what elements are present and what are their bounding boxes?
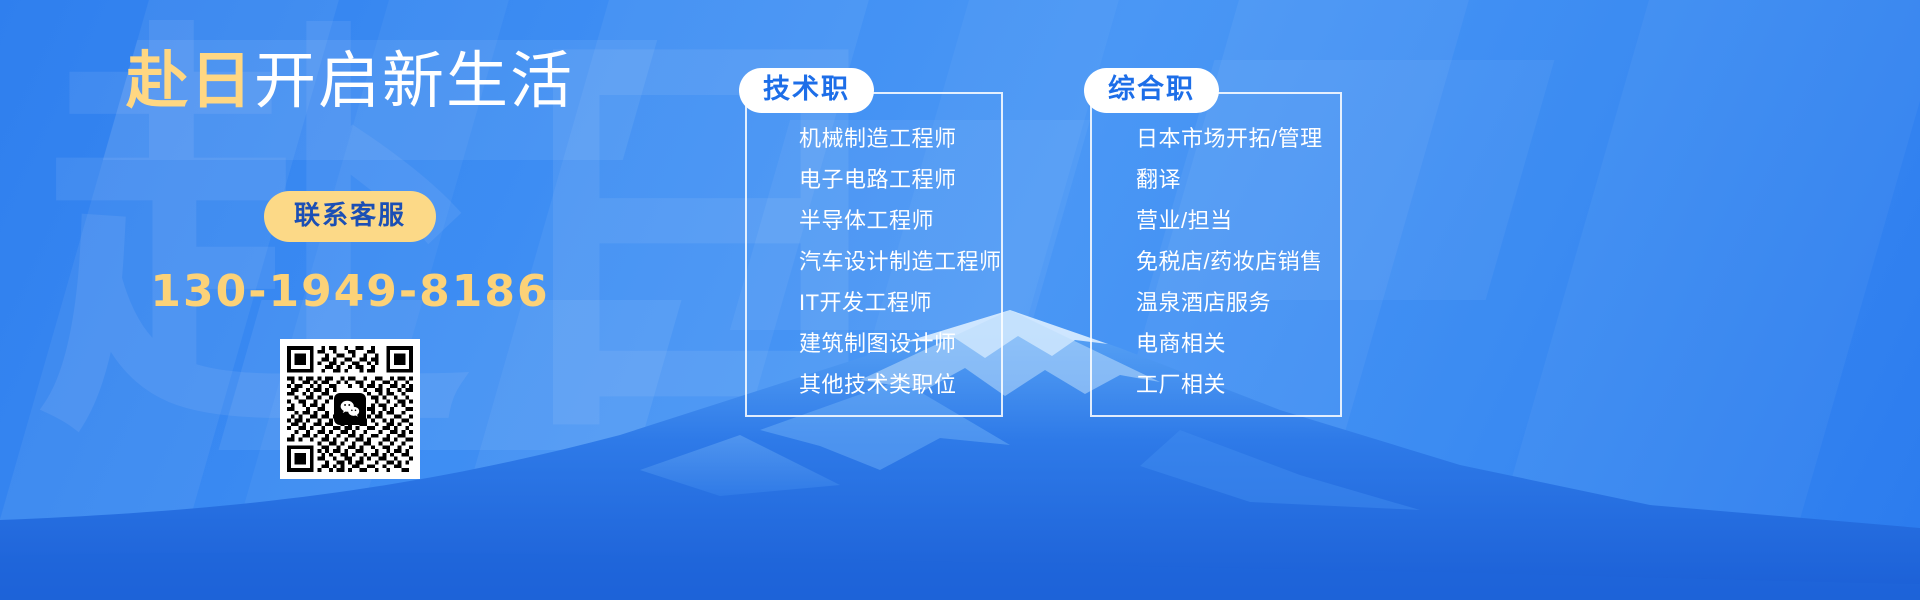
panel-badge-general: 综合职: [1084, 68, 1219, 113]
page-title: 赴日开启新生活: [0, 45, 700, 116]
list-item[interactable]: 汽车设计制造工程师: [777, 251, 975, 292]
list-item[interactable]: 建筑制图设计师: [777, 333, 975, 374]
list-item[interactable]: 工厂相关: [1122, 374, 1314, 396]
panel-badge-technical: 技术职: [739, 68, 874, 113]
wechat-glyph: [339, 398, 361, 420]
list-item[interactable]: 日本市场开拓/管理: [1122, 128, 1314, 169]
job-list-general: 日本市场开拓/管理 翻译 营业/担当 免税店/药妆店销售 温泉酒店服务 电商相关…: [1122, 128, 1314, 396]
list-item[interactable]: 其他技术类职位: [777, 374, 975, 396]
qr-code[interactable]: [280, 339, 420, 479]
list-item[interactable]: 机械制造工程师: [777, 128, 975, 169]
headline-highlight: 赴日: [126, 44, 254, 117]
list-item[interactable]: IT开发工程师: [777, 292, 975, 333]
job-panel-general: 综合职 日本市场开拓/管理 翻译 营业/担当 免税店/药妆店销售 温泉酒店服务 …: [1090, 92, 1342, 417]
list-item[interactable]: 免税店/药妆店销售: [1122, 251, 1314, 292]
job-panel-technical: 技术职 机械制造工程师 电子电路工程师 半导体工程师 汽车设计制造工程师 IT开…: [745, 92, 1003, 417]
job-list-technical: 机械制造工程师 电子电路工程师 半导体工程师 汽车设计制造工程师 IT开发工程师…: [777, 128, 975, 396]
contact-support-button[interactable]: 联系客服: [264, 191, 436, 242]
list-item[interactable]: 电子电路工程师: [777, 169, 975, 210]
list-item[interactable]: 翻译: [1122, 169, 1314, 210]
list-item[interactable]: 温泉酒店服务: [1122, 292, 1314, 333]
phone-number: 130-1949-8186: [0, 266, 700, 317]
decor-stripe: [1460, 0, 1920, 600]
promo-banner: 赴日: [0, 0, 1920, 600]
list-item[interactable]: 半导体工程师: [777, 210, 975, 251]
list-item[interactable]: 电商相关: [1122, 333, 1314, 374]
list-item[interactable]: 营业/担当: [1122, 210, 1314, 251]
left-content-column: 赴日开启新生活 联系客服 130-1949-8186: [0, 0, 700, 600]
wechat-icon: [334, 393, 366, 425]
headline-rest: 开启新生活: [254, 44, 574, 117]
